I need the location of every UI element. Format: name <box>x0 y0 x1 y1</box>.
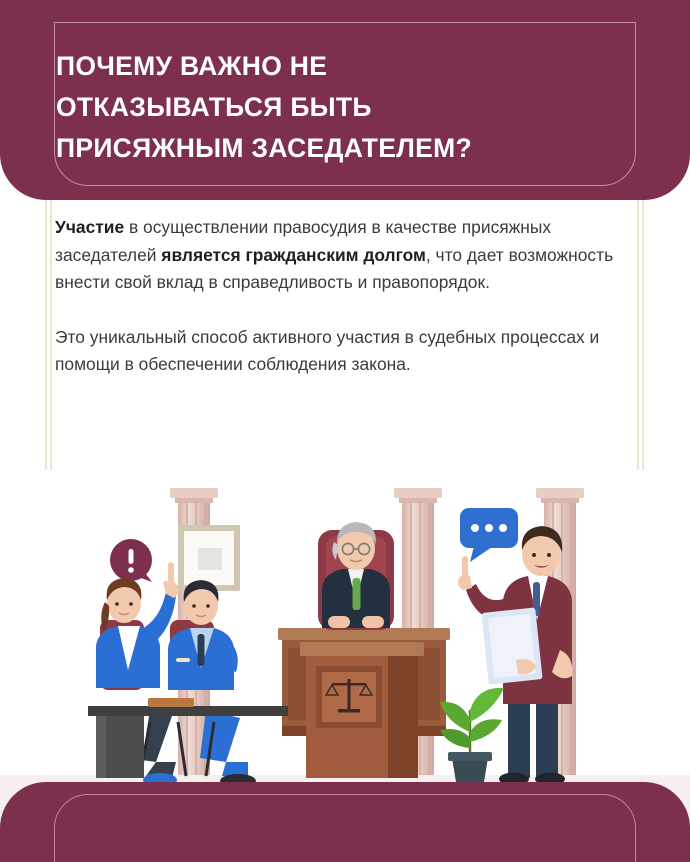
page-title-line-2: ОТКАЗЫВАТЬСЯ БЫТЬ <box>56 87 660 128</box>
page-title-line-1: ПОЧЕМУ ВАЖНО НЕ <box>56 46 660 87</box>
footer-inner-border <box>54 794 636 862</box>
footer-banner <box>0 782 690 862</box>
judge-figure <box>318 522 394 630</box>
paragraph-one-bold-lead: Участие <box>55 217 124 237</box>
lectern-with-scales <box>300 642 424 778</box>
courtroom-illustration <box>0 470 690 820</box>
paragraph-one-bold-mid: является гражданским долгом <box>161 245 426 265</box>
poster-page: ПОЧЕМУ ВАЖНО НЕ ОТКАЗЫВАТЬСЯ БЫТЬ ПРИСЯЖ… <box>0 0 690 862</box>
paragraph-one: Участие в осуществлении правосудия в кач… <box>55 214 630 297</box>
header-banner: ПОЧЕМУ ВАЖНО НЕ ОТКАЗЫВАТЬСЯ БЫТЬ ПРИСЯЖ… <box>0 0 690 200</box>
page-title-line-3: ПРИСЯЖНЫМ ЗАСЕДАТЕЛЕМ? <box>56 128 660 169</box>
page-title: ПОЧЕМУ ВАЖНО НЕ ОТКАЗЫВАТЬСЯ БЫТЬ ПРИСЯЖ… <box>56 46 660 169</box>
jury-desk <box>88 706 288 716</box>
body-text-block: Участие в осуществлении правосудия в кач… <box>55 214 630 379</box>
paragraph-two: Это уникальный способ активного участия … <box>55 324 630 379</box>
wall-picture-frame-icon <box>178 525 240 591</box>
